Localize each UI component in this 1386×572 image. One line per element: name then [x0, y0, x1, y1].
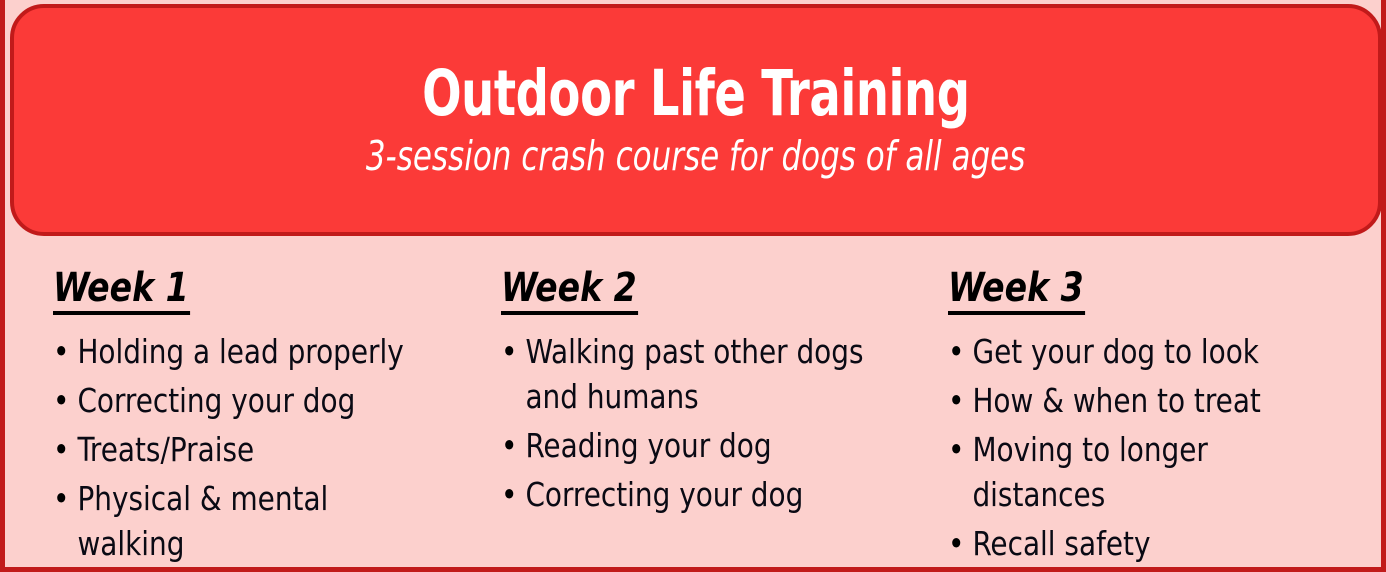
bullet-icon: • [948, 378, 964, 423]
list-item: • Reading your dog [501, 423, 890, 468]
poster-title: Outdoor Life Training [422, 61, 970, 127]
poster-subtitle: 3-session crash course for dogs of all a… [366, 134, 1026, 179]
list-item-label: How & when to treat [972, 381, 1260, 420]
list-item: • How & when to treat [948, 378, 1330, 423]
week-1-list: • Holding a lead properly • Correcting y… [53, 329, 460, 566]
list-item: • Physical & mental walking [53, 476, 436, 566]
bullet-icon: • [501, 472, 517, 517]
list-item: • Walking past other dogs and humans [501, 329, 890, 419]
week-column-2: Week 2 • Walking past other dogs and hum… [460, 236, 915, 521]
week-column-1: Week 1 • Holding a lead properly • Corre… [5, 236, 460, 570]
bullet-icon: • [948, 329, 964, 374]
list-item: • Treats/Praise [53, 427, 436, 472]
list-item-label: Walking past other dogs and humans [525, 332, 863, 416]
training-poster: Outdoor Life Training 3-session crash co… [0, 0, 1386, 572]
list-item-label: Moving to longer distances [972, 430, 1207, 514]
list-item-label: Physical & mental walking [77, 479, 328, 563]
weeks-columns: Week 1 • Holding a lead properly • Corre… [5, 236, 1381, 562]
list-item-label: Correcting your dog [77, 381, 355, 420]
list-item-label: Reading your dog [525, 426, 771, 465]
week-1-heading: Week 1 [53, 268, 191, 315]
week-2-list: • Walking past other dogs and humans • R… [501, 329, 915, 517]
list-item-label: Correcting your dog [525, 475, 803, 514]
bullet-icon: • [53, 427, 69, 472]
bullet-icon: • [501, 423, 517, 468]
bullet-icon: • [53, 378, 69, 423]
week-2-heading: Week 2 [501, 268, 639, 315]
week-3-list: • Get your dog to look • How & when to t… [948, 329, 1381, 566]
list-item-label: Get your dog to look [972, 332, 1259, 371]
list-item-label: Holding a lead properly [77, 332, 403, 371]
bullet-icon: • [53, 329, 69, 374]
poster-header-banner: Outdoor Life Training 3-session crash co… [10, 4, 1382, 236]
list-item: • Recall safety [948, 521, 1330, 566]
bullet-icon: • [948, 427, 964, 472]
list-item-label: Recall safety [972, 524, 1150, 563]
week-column-3: Week 3 • Get your dog to look • How & wh… [915, 236, 1381, 570]
list-item-label: Treats/Praise [77, 430, 254, 469]
week-3-heading: Week 3 [948, 268, 1086, 315]
list-item: • Correcting your dog [53, 378, 436, 423]
bullet-icon: • [501, 329, 517, 374]
list-item: • Get your dog to look [948, 329, 1330, 374]
list-item: • Moving to longer distances [948, 427, 1330, 517]
bullet-icon: • [948, 521, 964, 566]
list-item: • Holding a lead properly [53, 329, 436, 374]
list-item: • Correcting your dog [501, 472, 890, 517]
bullet-icon: • [53, 476, 69, 521]
